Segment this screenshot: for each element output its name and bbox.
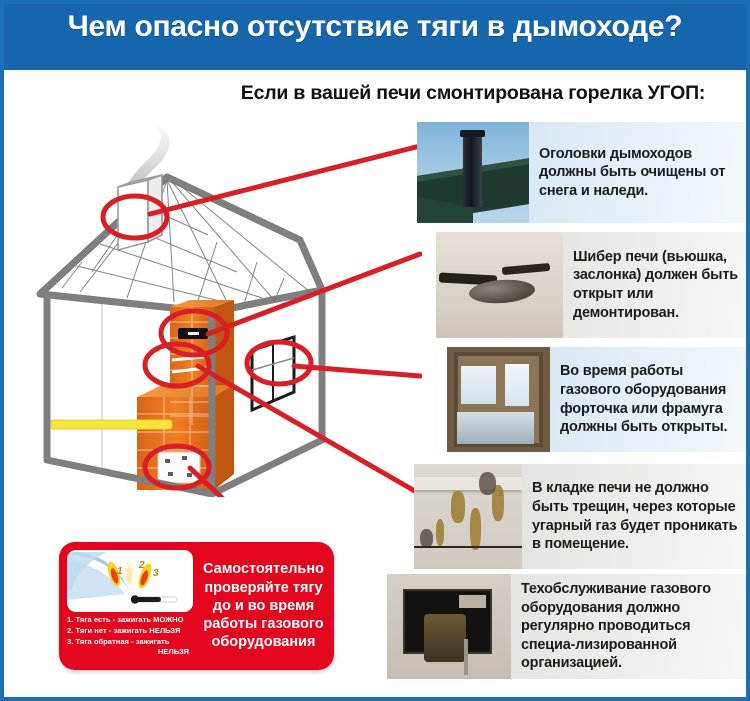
panel-text: В кладке печи не должно быть трещин, чер… (522, 464, 750, 569)
panel-text: Шибер печи (вьюшка, заслонка) должен быт… (563, 232, 750, 338)
draft-test-headline: Самостоятельно проверяйте тягу до и во в… (199, 542, 334, 670)
cracked-stove-masonry-photo (414, 464, 522, 569)
panel-text: Оголовки дымоходов должны быть очищены о… (529, 122, 750, 223)
draft-test-box: 1 2 3 1. Тяга есть - зажигать МОЖНО 2. Т… (59, 542, 334, 670)
house-svg (22, 122, 422, 497)
list-item: НЕЛЬЗЯ (67, 647, 193, 658)
draft-test-left: 1 2 3 1. Тяга есть - зажигать МОЖНО 2. Т… (59, 542, 199, 670)
panel-text: Во время работы газового оборудования фо… (550, 347, 750, 452)
panel-maintenance: Техобслуживание газового оборудования до… (387, 574, 750, 679)
panel-stove-cracks: В кладке печи не должно быть трещин, чер… (414, 464, 750, 569)
flame-number-1: 1 (117, 566, 123, 577)
draft-test-list: 1. Тяга есть - зажигать МОЖНО 2. Тяги не… (67, 615, 193, 658)
panel-text: Техобслуживание газового оборудования до… (511, 574, 750, 679)
open-window-photo (447, 347, 550, 452)
flame-number-2: 2 (139, 560, 145, 571)
subtitle: Если в вашей печи смонтирована горелка У… (199, 82, 747, 105)
chimney-on-roof-photo (417, 122, 529, 223)
list-item: 2. Тяги нет - зажигать НЕЛЬЗЯ (67, 626, 193, 637)
gas-burner-equipment-photo (387, 574, 511, 679)
house-cutaway-diagram (22, 122, 422, 497)
panel-stove-damper: Шибер печи (вьюшка, заслонка) должен быт… (436, 232, 750, 338)
flame-number-3: 3 (153, 568, 159, 579)
panel-open-window: Во время работы газового оборудования фо… (447, 347, 750, 452)
burner-plate (158, 452, 200, 483)
page-title: Чем опасно отсутствие тяги в дымоходе? (4, 10, 746, 44)
infographic-poster: Чем опасно отсутствие тяги в дымоходе? Е… (0, 0, 750, 701)
list-item: 3. Тяга обратная - зажигать (67, 637, 193, 648)
gas-pipe (50, 420, 172, 429)
stove-damper-photo (436, 232, 563, 338)
flame-diagram-svg (67, 550, 193, 612)
panel-chimney-caps: Оголовки дымоходов должны быть очищены о… (417, 122, 750, 223)
match-flame-draft-diagram: 1 2 3 (67, 550, 193, 612)
list-item: 1. Тяга есть - зажигать МОЖНО (67, 615, 193, 626)
